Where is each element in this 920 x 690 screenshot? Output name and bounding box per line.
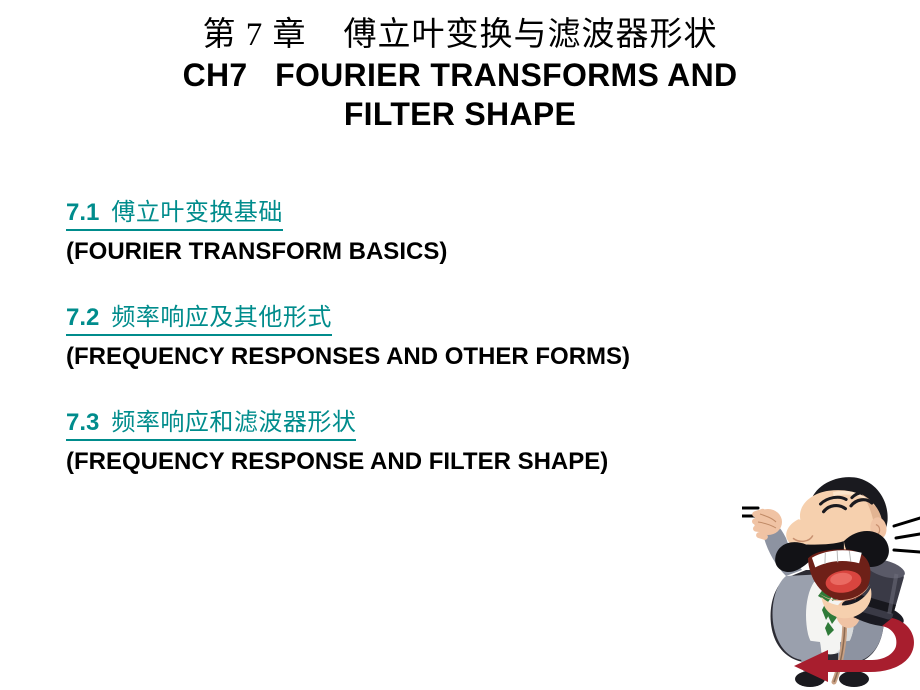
section-title-english-7-2: (FREQUENCY RESPONSES AND OTHER FORMS) xyxy=(66,343,866,371)
slide-canvas: 第 7 章 傅立叶变换与滤波器形状 CH7 FOURIER TRANSFORMS… xyxy=(0,0,920,690)
section-heading-7-3[interactable]: 7.3频率响应和滤波器形状 xyxy=(66,402,356,441)
section-number-7-1: 7.1 xyxy=(66,199,99,226)
section-heading-7-2[interactable]: 7.2频率响应及其他形式 xyxy=(66,297,332,336)
title-english-line-2: FILTER SHAPE xyxy=(0,95,920,134)
section-title-chinese-7-1: 傅立叶变换基础 xyxy=(111,200,283,226)
section-number-7-3: 7.3 xyxy=(66,409,99,436)
laughing-man-clipart xyxy=(742,470,920,690)
section-title-english-7-1: (FOURIER TRANSFORM BASICS) xyxy=(66,238,866,266)
section-item-7-1: 7.1傅立叶变换基础 (FOURIER TRANSFORM BASICS) xyxy=(66,192,866,266)
title-english-line-1: CH7 FOURIER TRANSFORMS AND xyxy=(0,56,920,95)
section-item-7-2: 7.2频率响应及其他形式 (FREQUENCY RESPONSES AND OT… xyxy=(66,297,866,371)
section-title-chinese-7-2: 频率响应及其他形式 xyxy=(111,305,332,331)
title-chinese: 第 7 章 傅立叶变换与滤波器形状 xyxy=(0,14,920,56)
section-number-7-2: 7.2 xyxy=(66,304,99,331)
section-heading-7-1[interactable]: 7.1傅立叶变换基础 xyxy=(66,192,283,231)
section-list: 7.1傅立叶变换基础 (FOURIER TRANSFORM BASICS) 7.… xyxy=(66,192,866,507)
slide-title: 第 7 章 傅立叶变换与滤波器形状 CH7 FOURIER TRANSFORMS… xyxy=(0,14,920,134)
section-item-7-3: 7.3频率响应和滤波器形状 (FREQUENCY RESPONSE AND FI… xyxy=(66,402,866,476)
section-title-chinese-7-3: 频率响应和滤波器形状 xyxy=(111,410,356,436)
